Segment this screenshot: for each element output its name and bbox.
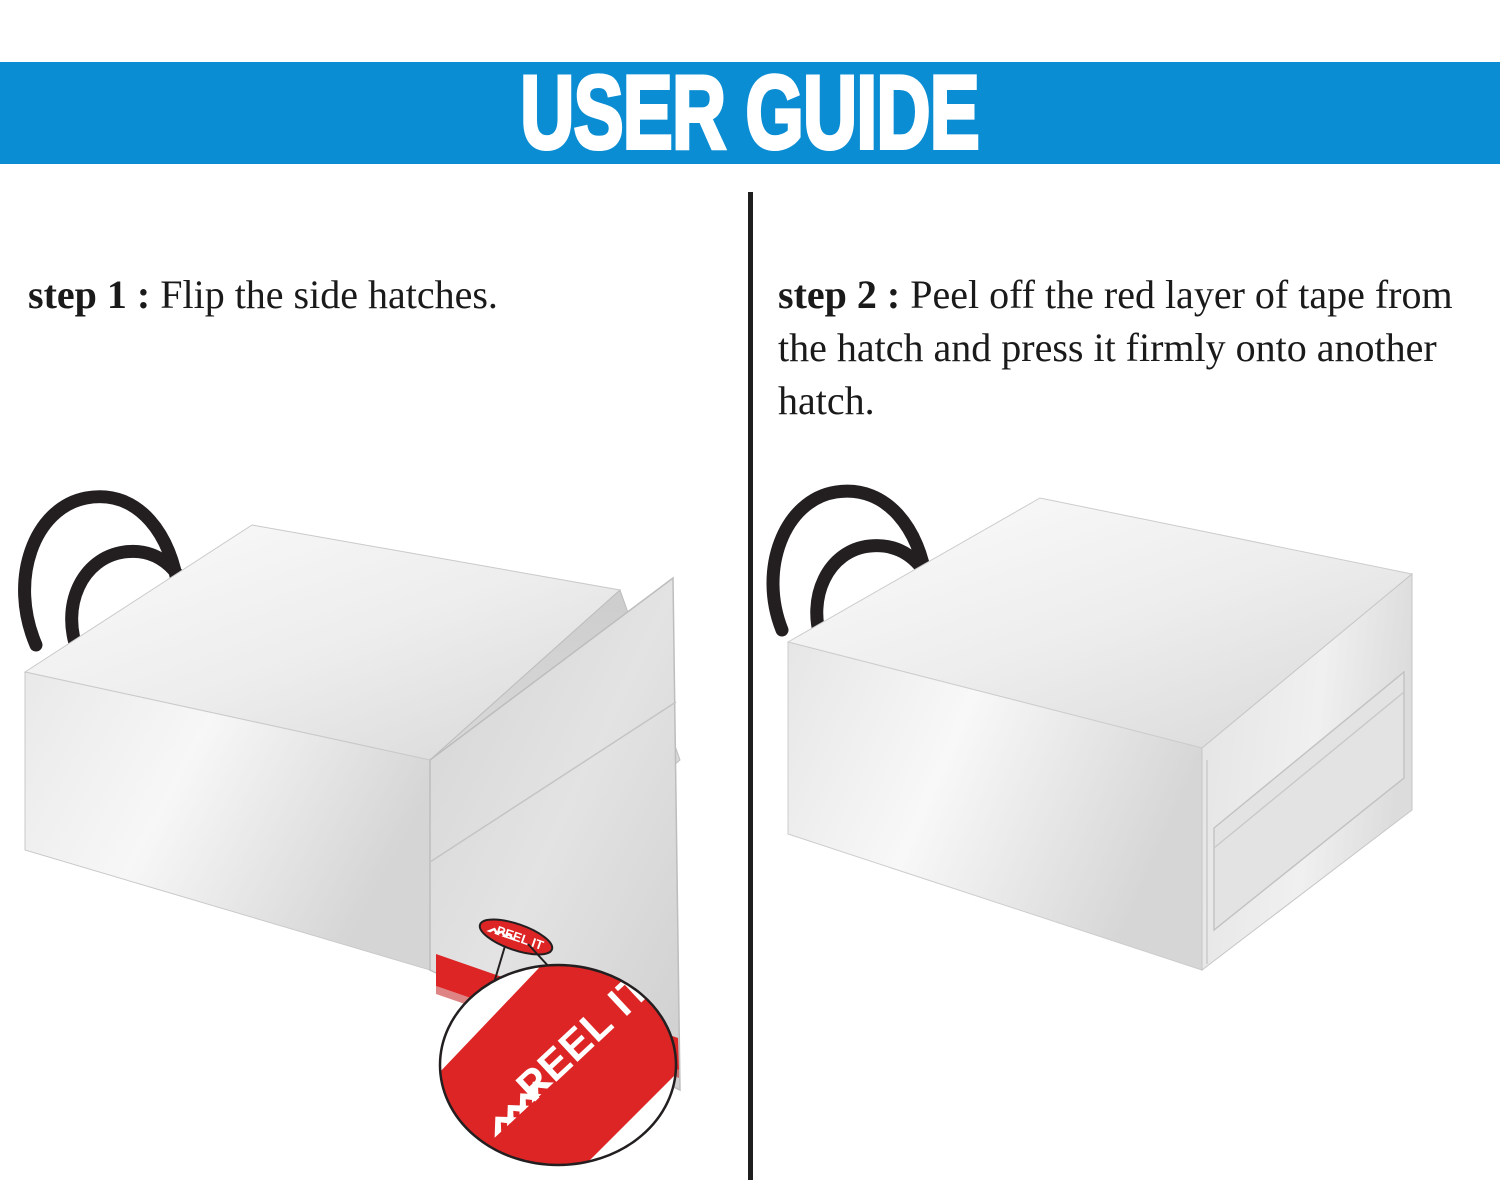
step-1-instruction: step 1 : Flip the side hatches. [28, 268, 688, 321]
step-2-instruction: step 2 : Peel off the red layer of tape … [778, 268, 1488, 427]
step-2-label: step 2 : [778, 272, 900, 317]
step-1-label: step 1 : [28, 272, 150, 317]
step-1-illustration: PEEL IT [0, 430, 745, 1200]
step-2-illustration [752, 430, 1500, 1200]
header-banner: USER GUIDE [0, 62, 1500, 164]
step-1-body: Flip the side hatches. [150, 272, 498, 317]
user-guide-page: USER GUIDE step 1 : Flip the side hatche… [0, 0, 1500, 1200]
page-title: USER GUIDE [521, 65, 980, 161]
